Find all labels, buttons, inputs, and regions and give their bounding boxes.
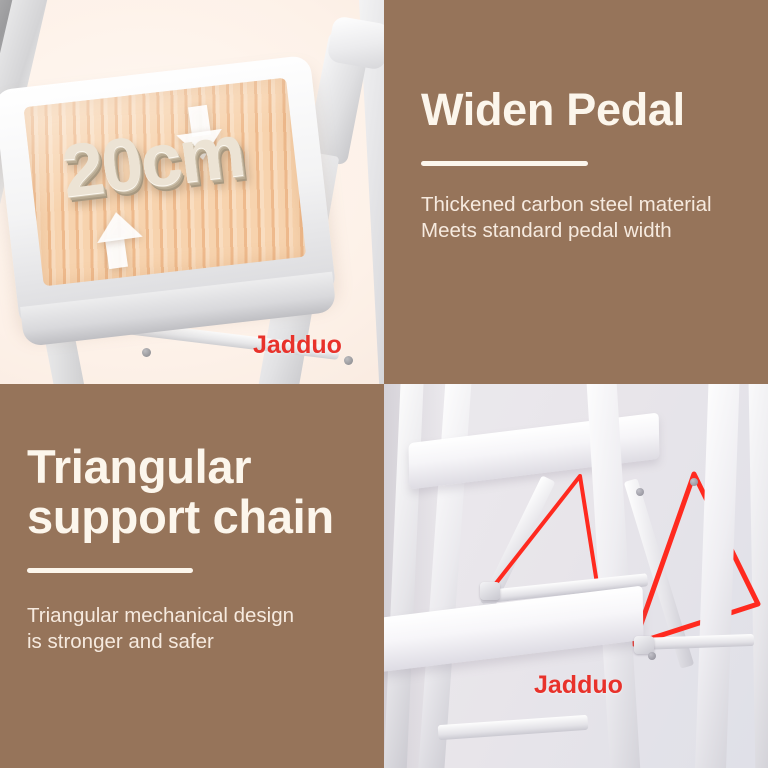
- rivet-icon: [648, 652, 656, 660]
- pedal-scene: 20cm Jadduo: [0, 0, 384, 384]
- accent-rule: [27, 568, 193, 573]
- photo-triangular-support: Jadduo: [384, 384, 768, 768]
- rivet-icon: [690, 478, 698, 486]
- rivet-icon: [142, 348, 151, 357]
- panel-headline-triangular-support-chain: Triangular support chain: [27, 442, 384, 542]
- rivet-icon: [344, 356, 353, 365]
- panel-widen-pedal: Widen Pedal Thickened carbon steel mater…: [384, 0, 768, 384]
- panel-body-triangular-support-chain: Triangular mechanical design is stronger…: [27, 603, 384, 655]
- brand-watermark: Jadduo: [253, 331, 342, 360]
- panel-body-widen-pedal: Thickened carbon steel material Meets st…: [421, 192, 768, 244]
- arrow-up-tail-icon: [105, 237, 128, 269]
- photo-widen-pedal: 20cm Jadduo: [0, 0, 384, 384]
- rivet-icon: [636, 488, 644, 496]
- accent-rule: [421, 161, 588, 166]
- brand-watermark: Jadduo: [534, 671, 623, 700]
- panel-headline-widen-pedal: Widen Pedal: [421, 86, 768, 134]
- product-feature-collage: 20cm Jadduo Widen Pedal Thickened carbon…: [0, 0, 768, 768]
- hinge-icon: [480, 582, 500, 600]
- panel-triangular-support-chain: Triangular support chain Triangular mech…: [0, 384, 384, 768]
